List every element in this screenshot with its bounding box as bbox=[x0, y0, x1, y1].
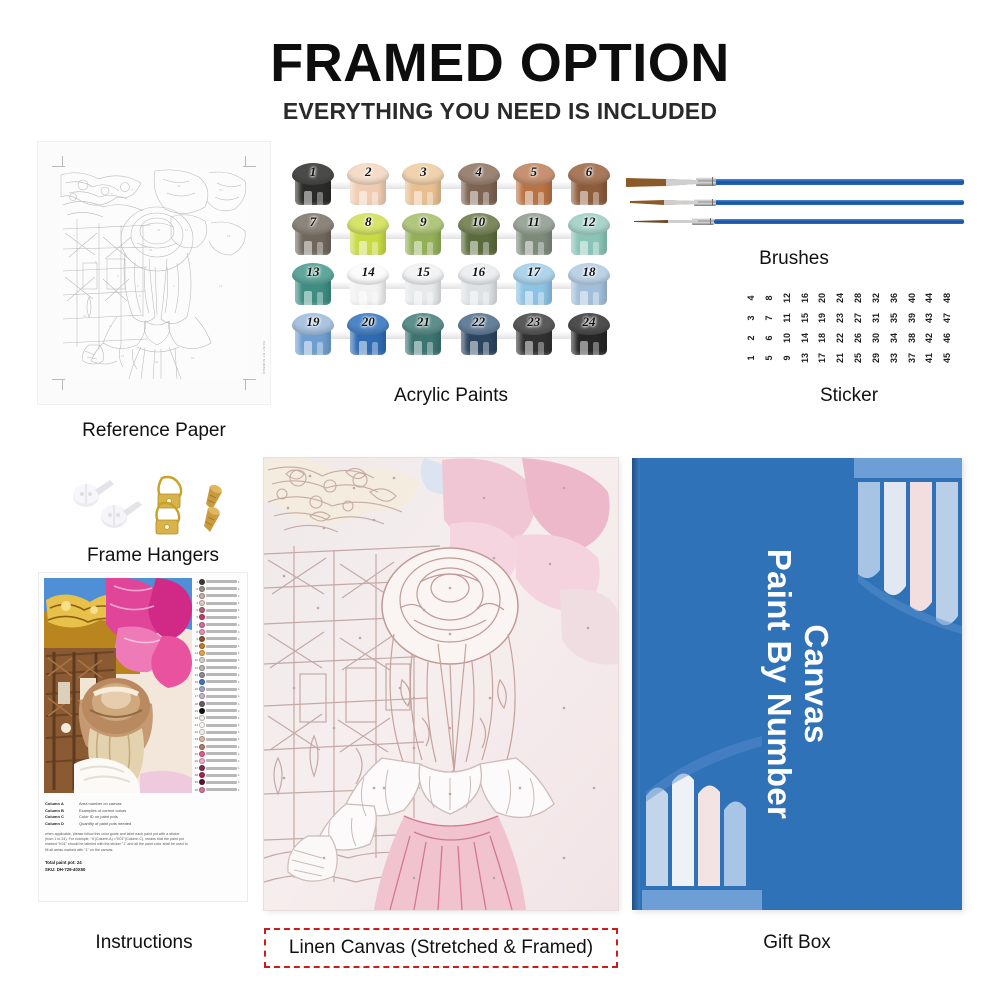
legend-row: 291 bbox=[191, 779, 243, 786]
gift-box-title: Canvas Paint By Number bbox=[760, 549, 834, 819]
legend-color-swatch bbox=[199, 693, 205, 699]
legend-quantity: 1 bbox=[238, 788, 242, 792]
legend-index: 24 bbox=[192, 745, 198, 749]
instruction-column-key: Column B bbox=[45, 808, 75, 813]
legend-index: 9 bbox=[192, 637, 198, 641]
svg-text:19: 19 bbox=[177, 184, 181, 188]
instruction-column-value: Area number on canvas bbox=[79, 801, 121, 806]
instruction-paragraph: when applicable, please follow this colo… bbox=[45, 832, 189, 854]
sticker-number[interactable]: 48 bbox=[937, 289, 957, 307]
legend-quantity: 1 bbox=[238, 580, 242, 584]
legend-color-code bbox=[206, 616, 237, 619]
paint-pot-highlight bbox=[317, 242, 323, 261]
legend-quantity: 1 bbox=[238, 651, 242, 655]
brush-tip bbox=[624, 196, 698, 214]
legend-index: 13 bbox=[192, 666, 198, 670]
svg-text:10: 10 bbox=[83, 314, 87, 318]
legend-quantity: 1 bbox=[238, 594, 242, 598]
sticker-number[interactable]: 36 bbox=[884, 289, 904, 307]
paint-pot[interactable]: 24 bbox=[568, 313, 610, 357]
caption-frame-hangers: Frame Hangers bbox=[38, 545, 268, 567]
frame-hangers-group bbox=[62, 470, 242, 540]
paint-pot-number: 8 bbox=[347, 214, 389, 230]
reference-paper-image: 354 798 61415 192017 1822 222123 101112 … bbox=[38, 142, 270, 404]
screw-icon bbox=[204, 505, 221, 532]
legend-index: 19 bbox=[192, 709, 198, 713]
paint-pot-highlight bbox=[580, 241, 588, 261]
paint-pot[interactable]: 22 bbox=[458, 313, 500, 357]
page-subtitle: EVERYTHING YOU NEED IS INCLUDED bbox=[0, 98, 1000, 125]
legend-index: 30 bbox=[192, 788, 198, 792]
legend-color-swatch bbox=[199, 629, 205, 635]
paint-pot-number: 9 bbox=[402, 214, 444, 230]
paint-pot-number: 11 bbox=[513, 214, 555, 230]
paint-pot-highlight bbox=[304, 191, 312, 211]
paint-pot[interactable]: 9 bbox=[402, 213, 444, 257]
paint-pot[interactable]: 17 bbox=[513, 263, 555, 307]
paint-pot-highlight bbox=[593, 192, 599, 211]
sticker-number[interactable]: 2 bbox=[741, 329, 761, 347]
legend-quantity: 1 bbox=[238, 730, 242, 734]
legend-row: 131 bbox=[191, 664, 243, 671]
legend-index: 1 bbox=[192, 580, 198, 584]
paint-pot-number: 24 bbox=[568, 314, 610, 330]
legend-color-swatch bbox=[199, 686, 205, 692]
paint-pot-number: 18 bbox=[568, 264, 610, 280]
legend-color-code bbox=[206, 759, 237, 762]
legend-index: 7 bbox=[192, 623, 198, 627]
legend-row: 41 bbox=[191, 600, 243, 607]
legend-color-swatch bbox=[199, 772, 205, 778]
paint-pot-highlight bbox=[470, 191, 478, 211]
paint-pot[interactable]: 3 bbox=[402, 163, 444, 207]
sticker-number[interactable]: 46 bbox=[937, 329, 957, 347]
legend-color-swatch bbox=[199, 643, 205, 649]
instruction-total-paint-pots: Total paint pot: 24 bbox=[45, 860, 189, 865]
sticker-number[interactable]: 12 bbox=[777, 289, 797, 307]
paint-pot-highlight bbox=[414, 241, 422, 261]
legend-color-code bbox=[206, 637, 237, 640]
legend-color-swatch bbox=[199, 765, 205, 771]
sticker-number[interactable]: 47 bbox=[937, 309, 957, 327]
svg-text:15: 15 bbox=[149, 248, 153, 252]
legend-color-swatch bbox=[199, 579, 205, 585]
legend-index: 10 bbox=[192, 644, 198, 648]
sticker-column: 8765 bbox=[760, 288, 778, 368]
paint-pot-number: 10 bbox=[458, 214, 500, 230]
gift-box-title-line1: Canvas bbox=[797, 549, 834, 819]
legend-row: 21 bbox=[191, 585, 243, 592]
paint-pot[interactable]: 16 bbox=[458, 263, 500, 307]
paint-pot-row: 789101112 bbox=[292, 213, 610, 259]
instructions-sheet: 1121314151617181911011111211311411511611… bbox=[38, 572, 248, 902]
sticker-number[interactable]: 34 bbox=[884, 329, 904, 347]
sticker-number[interactable]: 35 bbox=[884, 309, 904, 327]
legend-quantity: 1 bbox=[238, 723, 242, 727]
paint-pot[interactable]: 1 bbox=[292, 163, 334, 207]
paint-pot-highlight bbox=[580, 191, 588, 211]
legend-color-code bbox=[206, 602, 237, 605]
crop-mark bbox=[52, 379, 65, 380]
legend-row: 201 bbox=[191, 714, 243, 721]
legend-index: 21 bbox=[192, 723, 198, 727]
paint-pot-number: 5 bbox=[513, 164, 555, 180]
instruction-column-line: Column DQuantity of paint pots needed bbox=[45, 821, 189, 826]
instructions-preview-art bbox=[44, 578, 192, 793]
legend-color-code bbox=[206, 716, 237, 719]
svg-text:23: 23 bbox=[191, 356, 195, 360]
legend-index: 22 bbox=[192, 730, 198, 734]
sticker-number[interactable]: 28 bbox=[848, 289, 868, 307]
paint-pot-highlight bbox=[317, 192, 323, 211]
legend-color-swatch bbox=[199, 600, 205, 606]
sticker-number[interactable]: 8 bbox=[759, 289, 779, 307]
legend-color-code bbox=[206, 724, 237, 727]
sticker-column: 48474645 bbox=[938, 288, 956, 368]
brush-tip bbox=[624, 215, 698, 233]
paint-pot-highlight bbox=[470, 291, 478, 311]
paint-pot-highlight bbox=[317, 342, 323, 361]
legend-quantity: 1 bbox=[238, 745, 242, 749]
instructions-color-legend: 1121314151617181911011111211311411511611… bbox=[191, 578, 243, 793]
legend-index: 28 bbox=[192, 773, 198, 777]
sticker-number[interactable]: 1 bbox=[741, 349, 761, 367]
paint-pot[interactable]: 13 bbox=[292, 263, 334, 307]
paint-pot-highlight bbox=[470, 341, 478, 361]
paint-pot[interactable]: 20 bbox=[347, 313, 389, 357]
paint-pot-highlight bbox=[593, 292, 599, 311]
paint-pot-highlight bbox=[525, 241, 533, 261]
sticker-number[interactable]: 3 bbox=[741, 309, 761, 327]
caption-reference-paper: Reference Paper bbox=[38, 420, 270, 442]
legend-index: 29 bbox=[192, 780, 198, 784]
brushes-group bbox=[624, 170, 964, 250]
legend-row: 11 bbox=[191, 578, 243, 585]
caption-gift-box: Gift Box bbox=[632, 932, 962, 954]
paint-pot-highlight bbox=[359, 341, 367, 361]
sticker-number[interactable]: 27 bbox=[848, 309, 868, 327]
legend-color-code bbox=[206, 774, 237, 777]
caption-sticker: Sticker bbox=[742, 385, 956, 407]
brush-handle bbox=[714, 179, 964, 185]
paint-pot-highlight bbox=[414, 341, 422, 361]
paint-pot-highlight bbox=[538, 242, 544, 261]
sticker-sheet: 4321876512111091615141320191817242322212… bbox=[742, 288, 956, 368]
sticker-number[interactable]: 26 bbox=[848, 329, 868, 347]
legend-color-code bbox=[206, 731, 237, 734]
sticker-number[interactable]: 29 bbox=[866, 349, 886, 367]
paint-pot[interactable]: 12 bbox=[568, 213, 610, 257]
paint-pot-highlight bbox=[304, 291, 312, 311]
legend-row: 241 bbox=[191, 743, 243, 750]
instruction-column-value: Quantity of paint pots needed bbox=[79, 821, 131, 826]
legend-index: 15 bbox=[192, 680, 198, 684]
legend-row: 281 bbox=[191, 772, 243, 779]
legend-index: 11 bbox=[192, 651, 198, 655]
svg-text:11: 11 bbox=[109, 324, 112, 328]
legend-index: 18 bbox=[192, 702, 198, 706]
paint-pot-highlight bbox=[372, 342, 378, 361]
paint-pot-number: 17 bbox=[513, 264, 555, 280]
paint-pot-number: 19 bbox=[292, 314, 334, 330]
paint-pot[interactable]: 18 bbox=[568, 263, 610, 307]
legend-quantity: 1 bbox=[238, 637, 242, 641]
legend-color-code bbox=[206, 767, 237, 770]
legend-row: 161 bbox=[191, 686, 243, 693]
paint-pot[interactable]: 8 bbox=[347, 213, 389, 257]
legend-index: 3 bbox=[192, 594, 198, 598]
brush-tip bbox=[624, 176, 698, 194]
paint-pot-row: 131415161718 bbox=[292, 263, 610, 309]
paint-pot-highlight bbox=[580, 291, 588, 311]
legend-color-code bbox=[206, 695, 237, 698]
paint-pot-highlight bbox=[414, 291, 422, 311]
legend-color-code bbox=[206, 781, 237, 784]
legend-row: 111 bbox=[191, 650, 243, 657]
sticker-number[interactable]: 33 bbox=[884, 349, 904, 367]
legend-quantity: 1 bbox=[238, 644, 242, 648]
legend-quantity: 1 bbox=[238, 680, 242, 684]
paint-pot-highlight bbox=[372, 292, 378, 311]
instruction-column-value: Color ID on paint pots bbox=[79, 814, 118, 819]
paint-pot-highlight bbox=[317, 292, 323, 311]
sticker-number-grid: 4321876512111091615141320191817242322212… bbox=[742, 288, 956, 368]
paint-pot-highlight bbox=[372, 242, 378, 261]
paint-pot-highlight bbox=[304, 241, 312, 261]
legend-quantity: 1 bbox=[238, 709, 242, 713]
legend-color-code bbox=[206, 788, 237, 791]
paint-pot-highlight bbox=[593, 242, 599, 261]
paint-pot-highlight bbox=[483, 192, 489, 211]
paint-pot-number: 14 bbox=[347, 264, 389, 280]
sticker-column: 32313029 bbox=[867, 288, 885, 368]
linen-canvas-image bbox=[264, 458, 618, 910]
legend-row: 171 bbox=[191, 693, 243, 700]
legend-color-code bbox=[206, 666, 237, 669]
brush-handle bbox=[714, 200, 964, 205]
legend-index: 26 bbox=[192, 759, 198, 763]
legend-row: 61 bbox=[191, 614, 243, 621]
instruction-column-line: Column AArea number on canvas bbox=[45, 801, 189, 806]
paint-pot-number: 7 bbox=[292, 214, 334, 230]
legend-quantity: 1 bbox=[238, 759, 242, 763]
sticker-column: 28272625 bbox=[849, 288, 867, 368]
gift-box-title-line2: Paint By Number bbox=[760, 549, 797, 819]
legend-color-swatch bbox=[199, 593, 205, 599]
svg-text:22: 22 bbox=[155, 360, 159, 364]
paint-pot-highlight bbox=[359, 191, 367, 211]
legend-row: 301 bbox=[191, 786, 243, 793]
paint-pot-number: 21 bbox=[402, 314, 444, 330]
paint-pot-number: 3 bbox=[402, 164, 444, 180]
paint-pot-number: 23 bbox=[513, 314, 555, 330]
paint-pot[interactable]: 10 bbox=[458, 213, 500, 257]
sticker-number[interactable]: 10 bbox=[777, 329, 797, 347]
legend-row: 151 bbox=[191, 678, 243, 685]
legend-color-swatch bbox=[199, 622, 205, 628]
legend-quantity: 1 bbox=[238, 752, 242, 756]
paint-pot-number: 16 bbox=[458, 264, 500, 280]
legend-color-code bbox=[206, 659, 237, 662]
legend-index: 8 bbox=[192, 630, 198, 634]
legend-color-code bbox=[206, 709, 237, 712]
legend-color-swatch bbox=[199, 586, 205, 592]
legend-color-code bbox=[206, 673, 237, 676]
legend-index: 23 bbox=[192, 737, 198, 741]
screw-icon bbox=[206, 483, 223, 510]
legend-row: 261 bbox=[191, 757, 243, 764]
sticker-number[interactable]: 25 bbox=[848, 349, 868, 367]
legend-row: 71 bbox=[191, 621, 243, 628]
sticker-number[interactable]: 7 bbox=[759, 309, 779, 327]
instructions-text-block: Column AArea number on canvasColumn BExa… bbox=[45, 801, 189, 872]
paint-pot-number: 4 bbox=[458, 164, 500, 180]
legend-color-code bbox=[206, 688, 237, 691]
paint-pot[interactable]: 19 bbox=[292, 313, 334, 357]
legend-color-code bbox=[206, 745, 237, 748]
gift-box-image: Canvas Paint By Number bbox=[632, 458, 962, 910]
paint-pot-highlight bbox=[427, 242, 433, 261]
sticker-column: 16151413 bbox=[796, 288, 814, 368]
svg-text:12: 12 bbox=[219, 284, 223, 288]
legend-row: 271 bbox=[191, 764, 243, 771]
paint-pot[interactable]: 15 bbox=[402, 263, 444, 307]
legend-color-swatch bbox=[199, 607, 205, 613]
paint-pot[interactable]: 11 bbox=[513, 213, 555, 257]
sticker-number[interactable]: 45 bbox=[937, 349, 957, 367]
instruction-column-key: Column C bbox=[45, 814, 75, 819]
wall-anchor-icon bbox=[73, 480, 114, 507]
paint-pot[interactable]: 7 bbox=[292, 213, 334, 257]
legend-row: 81 bbox=[191, 628, 243, 635]
legend-color-swatch bbox=[199, 650, 205, 656]
sticker-column: 20191817 bbox=[813, 288, 831, 368]
legend-quantity: 1 bbox=[238, 658, 242, 662]
paint-pot[interactable]: 14 bbox=[347, 263, 389, 307]
legend-quantity: 1 bbox=[238, 766, 242, 770]
legend-index: 14 bbox=[192, 673, 198, 677]
legend-color-swatch bbox=[199, 672, 205, 678]
paint-pot-highlight bbox=[427, 342, 433, 361]
sticker-number[interactable]: 11 bbox=[777, 309, 797, 327]
sticker-number[interactable]: 32 bbox=[866, 289, 886, 307]
brush-ferrule bbox=[696, 177, 716, 186]
sticker-number[interactable]: 5 bbox=[759, 349, 779, 367]
instruction-column-key: Column D bbox=[45, 821, 75, 826]
legend-index: 25 bbox=[192, 752, 198, 756]
caption-acrylic-paints: Acrylic Paints bbox=[292, 385, 610, 407]
legend-index: 17 bbox=[192, 694, 198, 698]
legend-row: 191 bbox=[191, 707, 243, 714]
paint-pot-row: 192021222324 bbox=[292, 313, 610, 359]
brush-handle bbox=[714, 219, 964, 224]
legend-index: 16 bbox=[192, 687, 198, 691]
legend-color-swatch bbox=[199, 758, 205, 764]
paint-pot-highlight bbox=[427, 192, 433, 211]
legend-quantity: 1 bbox=[238, 615, 242, 619]
svg-text:17: 17 bbox=[185, 228, 189, 232]
legend-quantity: 1 bbox=[238, 623, 242, 627]
paint-pot-number: 20 bbox=[347, 314, 389, 330]
svg-text:20: 20 bbox=[219, 188, 223, 192]
legend-color-code bbox=[206, 609, 237, 612]
legend-row: 211 bbox=[191, 721, 243, 728]
caption-linen-canvas: Linen Canvas (Stretched & Framed) bbox=[264, 928, 618, 968]
paint-pot[interactable]: 2 bbox=[347, 163, 389, 207]
instruction-column-line: Column CColor ID on paint pots bbox=[45, 814, 189, 819]
paint-pot[interactable]: 5 bbox=[513, 163, 555, 207]
legend-index: 2 bbox=[192, 587, 198, 591]
paint-pot-highlight bbox=[483, 242, 489, 261]
paint-pot-highlight bbox=[525, 341, 533, 361]
sticker-column: 36353433 bbox=[885, 288, 903, 368]
legend-quantity: 1 bbox=[238, 666, 242, 670]
svg-text:18: 18 bbox=[227, 234, 231, 238]
legend-color-swatch bbox=[199, 614, 205, 620]
legend-color-code bbox=[206, 623, 237, 626]
paint-pot-number: 6 bbox=[568, 164, 610, 180]
paint-pot[interactable]: 6 bbox=[568, 163, 610, 207]
reference-line-art: 354 798 61415 192017 1822 222123 101112 bbox=[59, 167, 249, 379]
instruction-column-key: Column A bbox=[45, 801, 75, 806]
legend-quantity: 1 bbox=[238, 630, 242, 634]
paint-pot-highlight bbox=[359, 241, 367, 261]
paint-pot-number: 13 bbox=[292, 264, 334, 280]
legend-quantity: 1 bbox=[238, 587, 242, 591]
paint-pot-highlight bbox=[304, 341, 312, 361]
acrylic-paints-group: 123456789101112131415161718192021222324 bbox=[292, 163, 610, 363]
paint-pot-number: 1 bbox=[292, 164, 334, 180]
legend-index: 12 bbox=[192, 658, 198, 662]
sticker-number[interactable]: 30 bbox=[866, 329, 886, 347]
paint-pot-highlight bbox=[427, 292, 433, 311]
legend-row: 181 bbox=[191, 700, 243, 707]
sticker-number[interactable]: 4 bbox=[741, 289, 761, 307]
paint-pot-number: 12 bbox=[568, 214, 610, 230]
paint-pot[interactable]: 4 bbox=[458, 163, 500, 207]
sticker-column: 24232221 bbox=[831, 288, 849, 368]
paint-pot-number: 2 bbox=[347, 164, 389, 180]
legend-row: 91 bbox=[191, 635, 243, 642]
paint-pot-highlight bbox=[372, 192, 378, 211]
legend-quantity: 1 bbox=[238, 773, 242, 777]
legend-index: 27 bbox=[192, 766, 198, 770]
legend-quantity: 1 bbox=[238, 702, 242, 706]
legend-color-code bbox=[206, 594, 237, 597]
sticker-column: 44434241 bbox=[920, 288, 938, 368]
legend-quantity: 1 bbox=[238, 687, 242, 691]
sticker-number[interactable]: 9 bbox=[777, 349, 797, 367]
paint-pot-highlight bbox=[483, 342, 489, 361]
legend-color-swatch bbox=[199, 729, 205, 735]
paint-pot-highlight bbox=[538, 192, 544, 211]
paint-pot-highlight bbox=[580, 341, 588, 361]
sticker-number[interactable]: 31 bbox=[866, 309, 886, 327]
legend-color-swatch bbox=[199, 736, 205, 742]
legend-row: 51 bbox=[191, 607, 243, 614]
sticker-number[interactable]: 6 bbox=[759, 329, 779, 347]
legend-quantity: 1 bbox=[238, 608, 242, 612]
legend-quantity: 1 bbox=[238, 601, 242, 605]
paint-pot[interactable]: 21 bbox=[402, 313, 444, 357]
paint-pot-highlight bbox=[483, 292, 489, 311]
legend-color-code bbox=[206, 580, 237, 583]
paint-pot-highlight bbox=[538, 292, 544, 311]
legend-quantity: 1 bbox=[238, 673, 242, 677]
paint-pot[interactable]: 23 bbox=[513, 313, 555, 357]
legend-row: 221 bbox=[191, 729, 243, 736]
paint-pot-row: 123456 bbox=[292, 163, 610, 209]
